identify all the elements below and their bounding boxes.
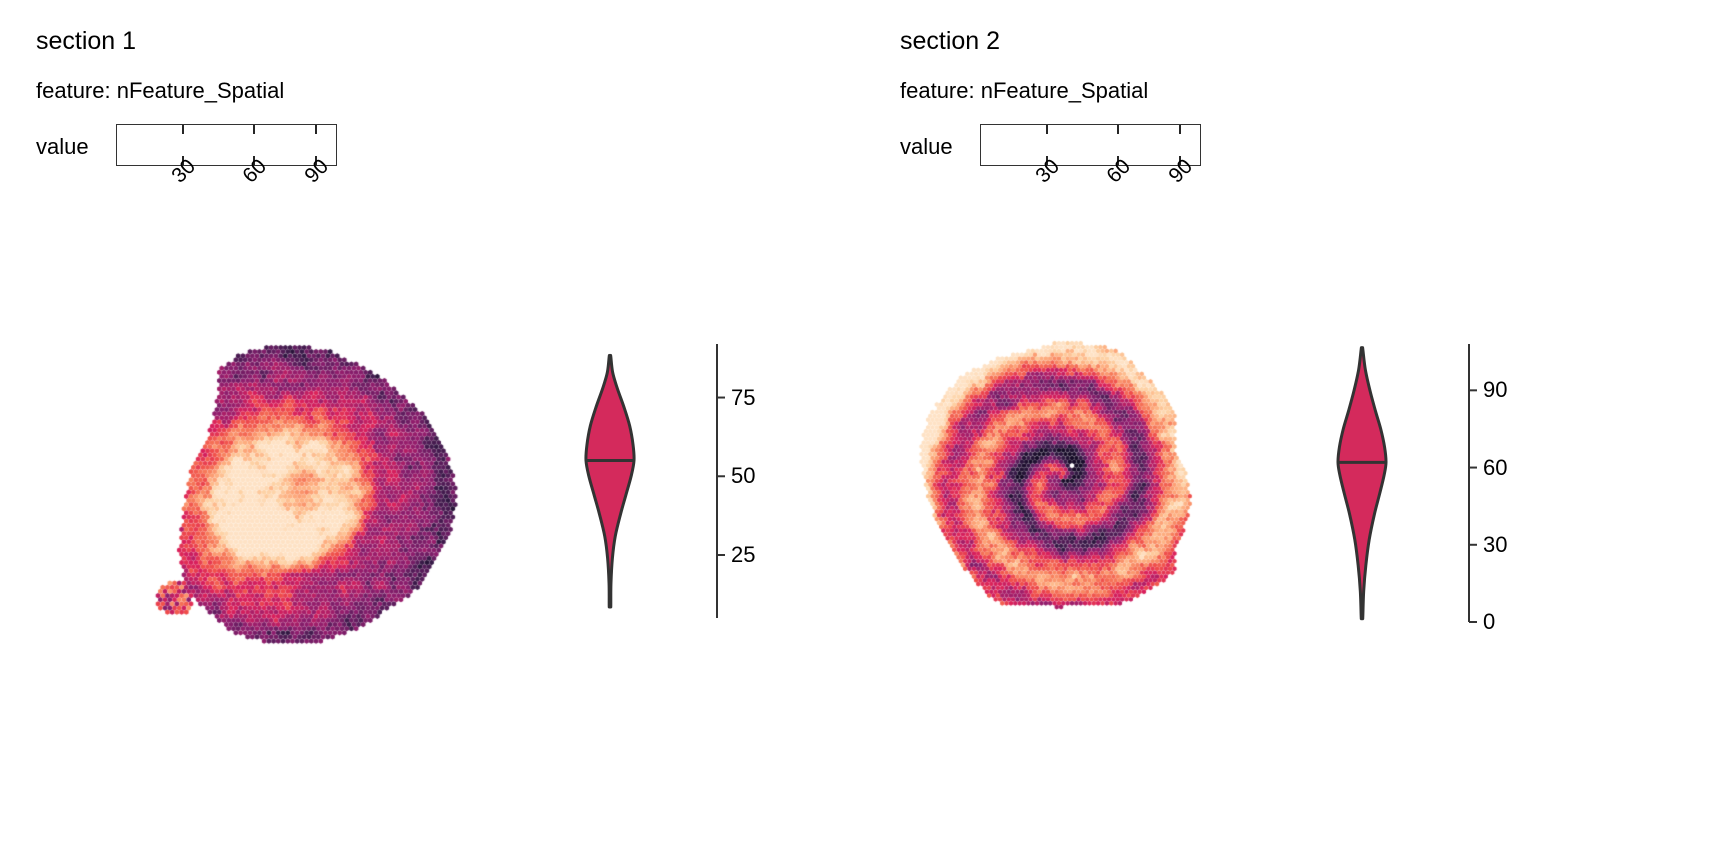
- violin-axis-tick-label: 0: [1483, 611, 1495, 633]
- colorbar-tick-labels: 306090: [116, 168, 376, 214]
- colorbar-tick: [1179, 125, 1181, 134]
- colorbar-tick: [1046, 125, 1048, 134]
- legend-title: value: [900, 134, 953, 160]
- violin-axis-tick-label: 25: [731, 544, 755, 566]
- violin-axis-tick-label: 50: [731, 465, 755, 487]
- spot-map-section-2: [912, 325, 1212, 635]
- feature-label: feature: nFeature_Spatial: [36, 78, 284, 104]
- spot-map-section-1: [122, 328, 462, 648]
- legend-title: value: [36, 134, 89, 160]
- colorbar-tick: [315, 125, 317, 134]
- colorbar: [116, 124, 337, 166]
- page-title: section 2: [900, 26, 1000, 56]
- colorbar-tick-labels: 306090: [980, 168, 1240, 214]
- panel-section-1: section 1 feature: nFeature_Spatial valu…: [0, 0, 864, 864]
- page-title: section 1: [36, 26, 136, 56]
- violin-axis-labels-section-2: 0306090: [1304, 330, 1504, 635]
- colorbar: [980, 124, 1201, 166]
- colorbar-tick: [1117, 125, 1119, 134]
- violin-axis-tick-label: 60: [1483, 457, 1507, 479]
- panel-section-2: section 2 feature: nFeature_Spatial valu…: [864, 0, 1728, 864]
- violin-axis-tick-label: 30: [1483, 534, 1507, 556]
- colorbar-tick: [253, 125, 255, 134]
- colorbar-tick: [182, 125, 184, 134]
- violin-axis-tick-label: 90: [1483, 379, 1507, 401]
- violin-axis-labels-section-1: 255075: [552, 330, 752, 630]
- violin-axis-tick-label: 75: [731, 387, 755, 409]
- feature-label: feature: nFeature_Spatial: [900, 78, 1148, 104]
